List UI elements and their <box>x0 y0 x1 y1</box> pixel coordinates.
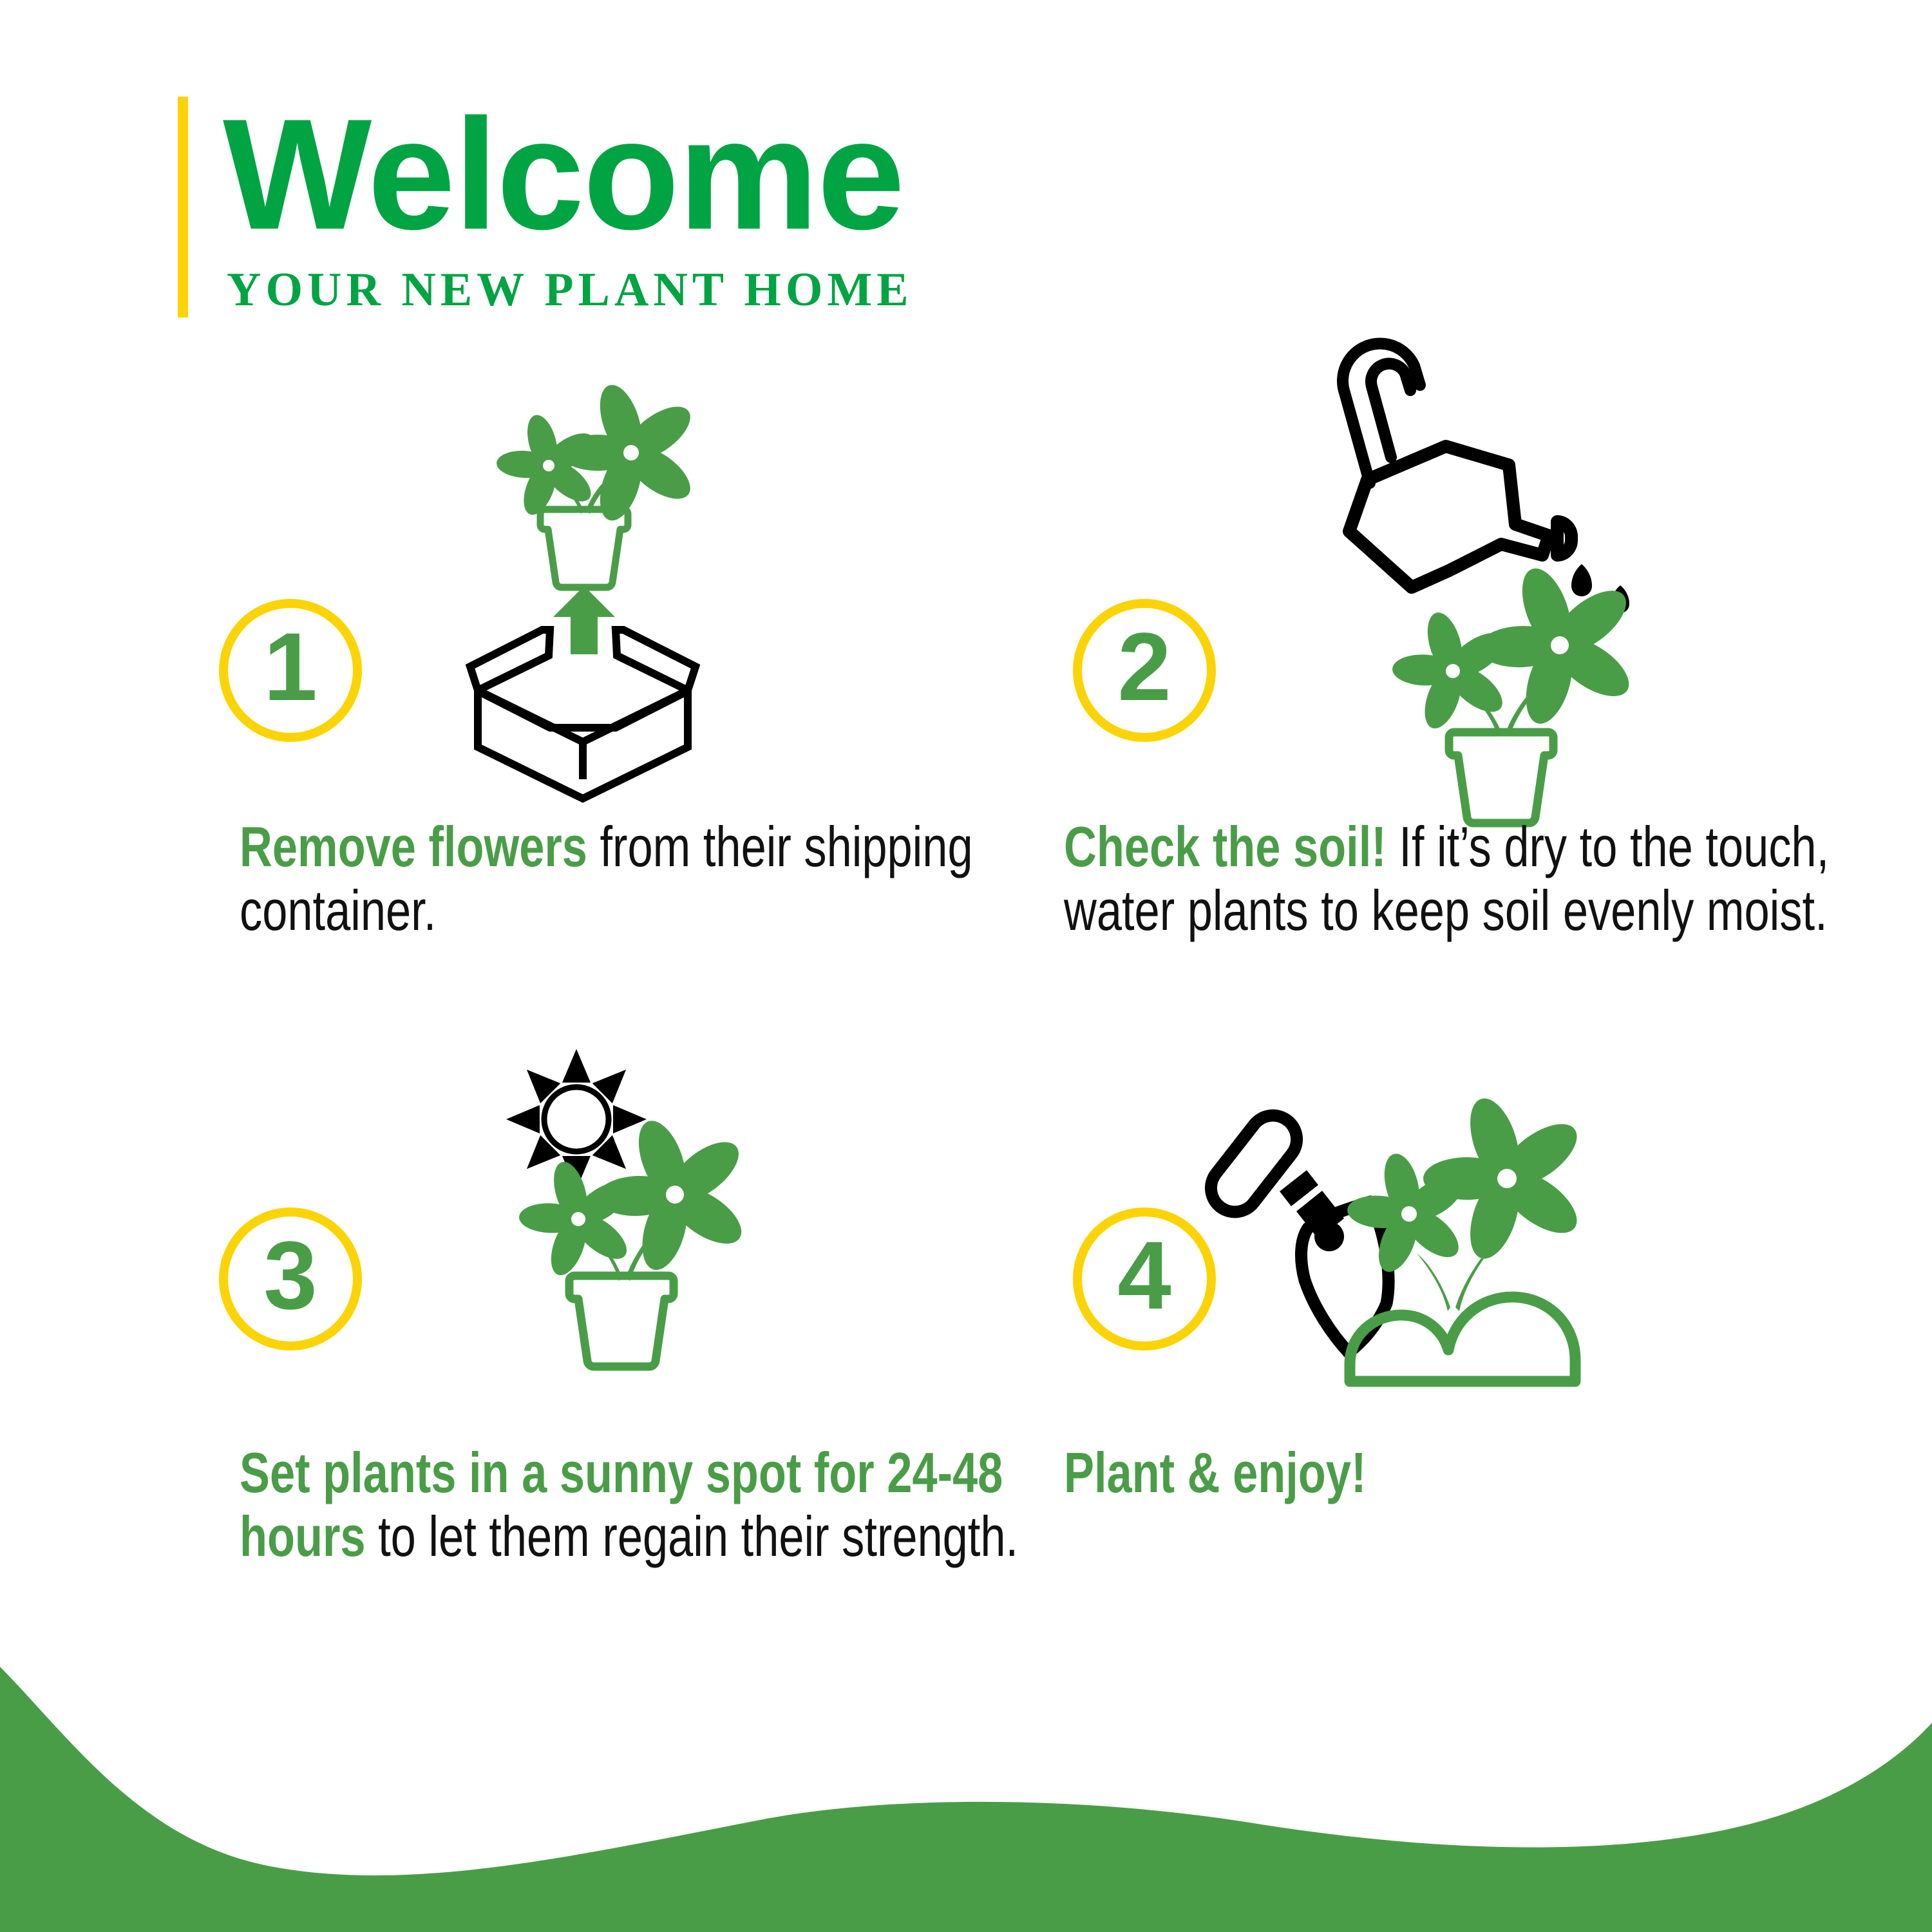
page-title: Welcome <box>223 97 913 251</box>
step-4-illustration <box>1224 1114 1636 1397</box>
step-2-caption-highlight: Check the soil! <box>1064 815 1387 878</box>
bottom-wave-decoration <box>0 1662 1932 1932</box>
header-text-block: Welcome YOUR NEW PLANT HOME <box>223 97 913 317</box>
step-1-illustration <box>444 399 721 786</box>
watering-can-over-potted-plant-icon <box>1301 264 1636 786</box>
step-3-caption-rest: to let them regain their strength. <box>366 1504 1019 1568</box>
step-3-number-badge: 3 <box>219 1207 362 1350</box>
page-subtitle: YOUR NEW PLANT HOME <box>227 263 913 317</box>
step-2-number-badge: 2 <box>1073 599 1216 742</box>
step-2-caption: Check the soil! If it’s dry to the touch… <box>1064 815 1909 942</box>
step-4-number-badge: 4 <box>1073 1207 1216 1350</box>
sun-icon <box>506 1049 647 1189</box>
step-4-caption-highlight: Plant & enjoy! <box>1064 1441 1366 1504</box>
trowel-icon <box>1202 1106 1388 1352</box>
sun-over-potted-plant-icon <box>502 1040 811 1368</box>
step-4-number: 4 <box>1117 1227 1171 1323</box>
step-3-caption: Set plants in a sunny spot for 24-48 hou… <box>240 1441 1038 1568</box>
step-2-illustration <box>1301 264 1636 786</box>
step-2-number: 2 <box>1117 618 1171 715</box>
step-1-number: 1 <box>263 618 317 715</box>
step-3-number: 3 <box>263 1227 317 1323</box>
step-1-caption-highlight: Remove flowers <box>240 815 587 878</box>
green-wave-shape <box>0 1662 1932 1932</box>
step-1-number-badge: 1 <box>219 599 362 742</box>
step-1-caption: Remove flowers from their shipping conta… <box>240 815 1038 942</box>
poster-header: Welcome YOUR NEW PLANT HOME <box>178 97 913 317</box>
yellow-accent-rule <box>178 97 188 317</box>
step-3-illustration <box>502 1040 811 1368</box>
trowel-with-planted-flowers-icon <box>1224 1114 1636 1397</box>
poster-canvas: Welcome YOUR NEW PLANT HOME <box>0 0 1932 1932</box>
step-4-caption: Plant & enjoy! <box>1064 1441 1909 1505</box>
plant-coming-out-of-open-box-icon <box>444 399 721 786</box>
